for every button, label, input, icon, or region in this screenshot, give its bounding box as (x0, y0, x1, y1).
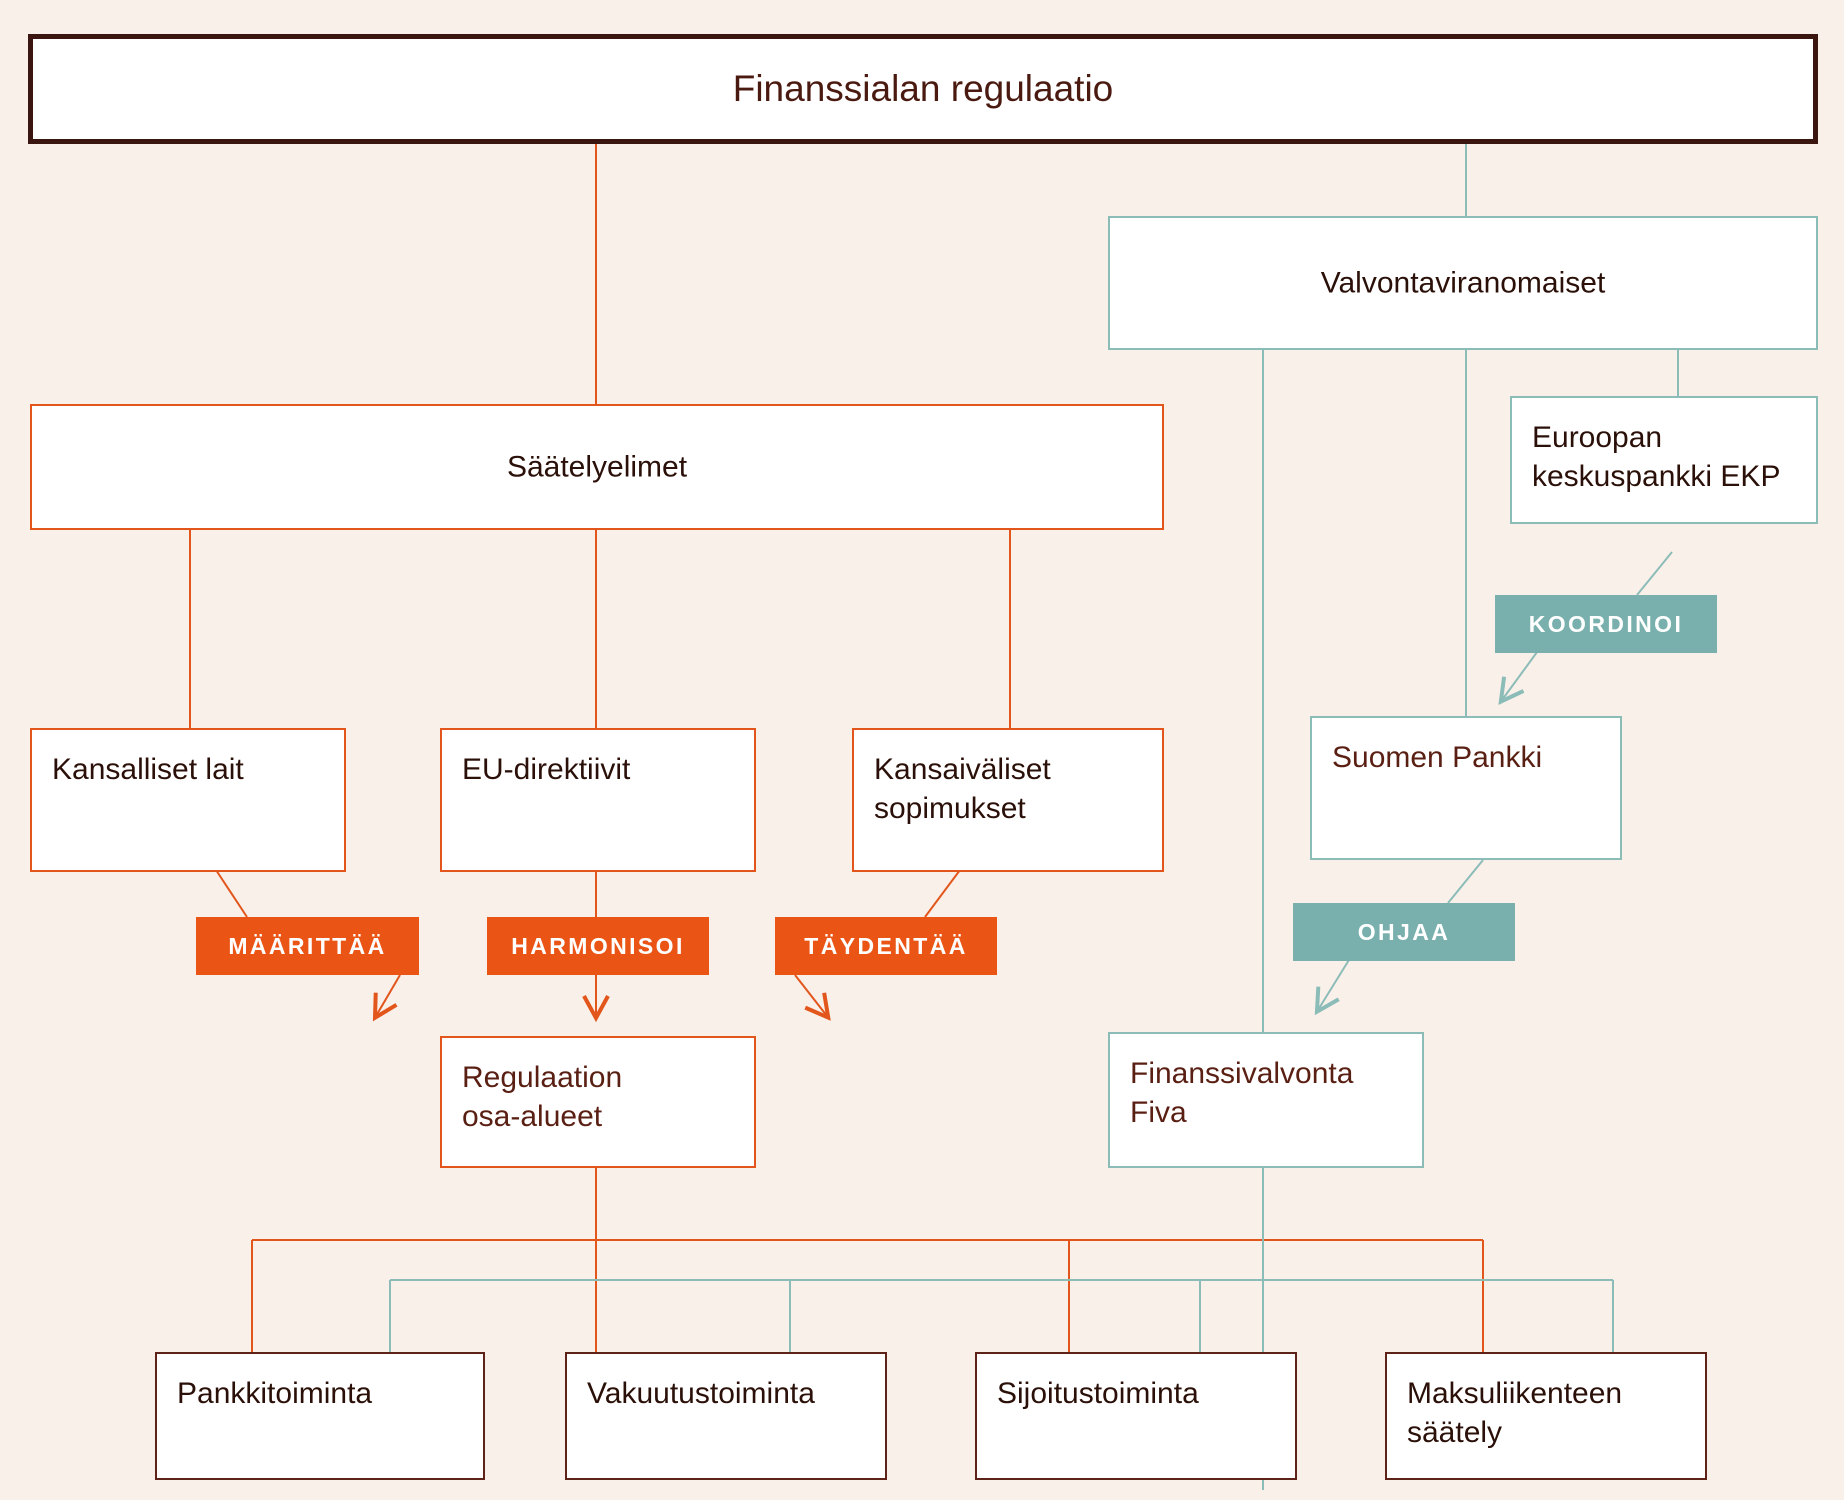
node-kansainvaliset-sopimukset-label: Kansaivälisetsopimukset (874, 750, 1150, 828)
node-saatelyelimet-label: Säätelyelimet (32, 448, 1162, 487)
node-valvontaviranomaiset-label: Valvontaviranomaiset (1110, 264, 1816, 303)
node-kansalliset-lait[interactable]: Kansalliset lait (30, 728, 346, 872)
badge-harmonisoi[interactable]: HARMONISOI (487, 917, 709, 975)
node-pankkitoiminta[interactable]: Pankkitoiminta (155, 1352, 485, 1480)
node-ekp-label: Euroopankeskuspankki EKP (1532, 418, 1804, 496)
node-maksuliikenteen-saately[interactable]: Maksuliikenteensäätely (1385, 1352, 1707, 1480)
node-saatelyelimet[interactable]: Säätelyelimet (30, 404, 1164, 530)
node-regulaation-osa-alueet-label: Regulaationosa-alueet (462, 1058, 742, 1136)
node-ekp[interactable]: Euroopankeskuspankki EKP (1510, 396, 1818, 524)
node-suomen-pankki-label: Suomen Pankki (1332, 738, 1608, 777)
node-root-label: Finanssialan regulaatio (33, 65, 1813, 113)
badge-ohjaa[interactable]: OHJAA (1293, 903, 1515, 961)
badge-maarittaa[interactable]: MÄÄRITTÄÄ (196, 917, 419, 975)
node-fiva[interactable]: FinanssivalvontaFiva (1108, 1032, 1424, 1168)
node-vakuutustoiminta-label: Vakuutustoiminta (587, 1374, 873, 1413)
node-regulaation-osa-alueet[interactable]: Regulaationosa-alueet (440, 1036, 756, 1168)
node-valvontaviranomaiset[interactable]: Valvontaviranomaiset (1108, 216, 1818, 350)
diagram-canvas: Finanssialan regulaatio Valvontaviranoma… (0, 0, 1844, 1500)
badge-harmonisoi-label: HARMONISOI (511, 933, 685, 960)
node-vakuutustoiminta[interactable]: Vakuutustoiminta (565, 1352, 887, 1480)
node-eu-direktiivit-label: EU-direktiivit (462, 750, 742, 789)
node-pankkitoiminta-label: Pankkitoiminta (177, 1374, 471, 1413)
node-fiva-label: FinanssivalvontaFiva (1130, 1054, 1410, 1132)
badge-koordinoi[interactable]: KOORDINOI (1495, 595, 1717, 653)
node-kansainvaliset-sopimukset[interactable]: Kansaivälisetsopimukset (852, 728, 1164, 872)
node-maksuliikenteen-saately-label: Maksuliikenteensäätely (1407, 1374, 1693, 1452)
node-sijoitustoiminta[interactable]: Sijoitustoiminta (975, 1352, 1297, 1480)
badge-koordinoi-label: KOORDINOI (1529, 611, 1684, 638)
node-eu-direktiivit[interactable]: EU-direktiivit (440, 728, 756, 872)
badge-taydentaa[interactable]: TÄYDENTÄÄ (775, 917, 997, 975)
badge-taydentaa-label: TÄYDENTÄÄ (804, 933, 967, 960)
badge-ohjaa-label: OHJAA (1358, 919, 1451, 946)
node-kansalliset-lait-label: Kansalliset lait (52, 750, 332, 789)
node-suomen-pankki[interactable]: Suomen Pankki (1310, 716, 1622, 860)
node-sijoitustoiminta-label: Sijoitustoiminta (997, 1374, 1283, 1413)
node-root[interactable]: Finanssialan regulaatio (28, 34, 1818, 144)
badge-maarittaa-label: MÄÄRITTÄÄ (228, 933, 386, 960)
